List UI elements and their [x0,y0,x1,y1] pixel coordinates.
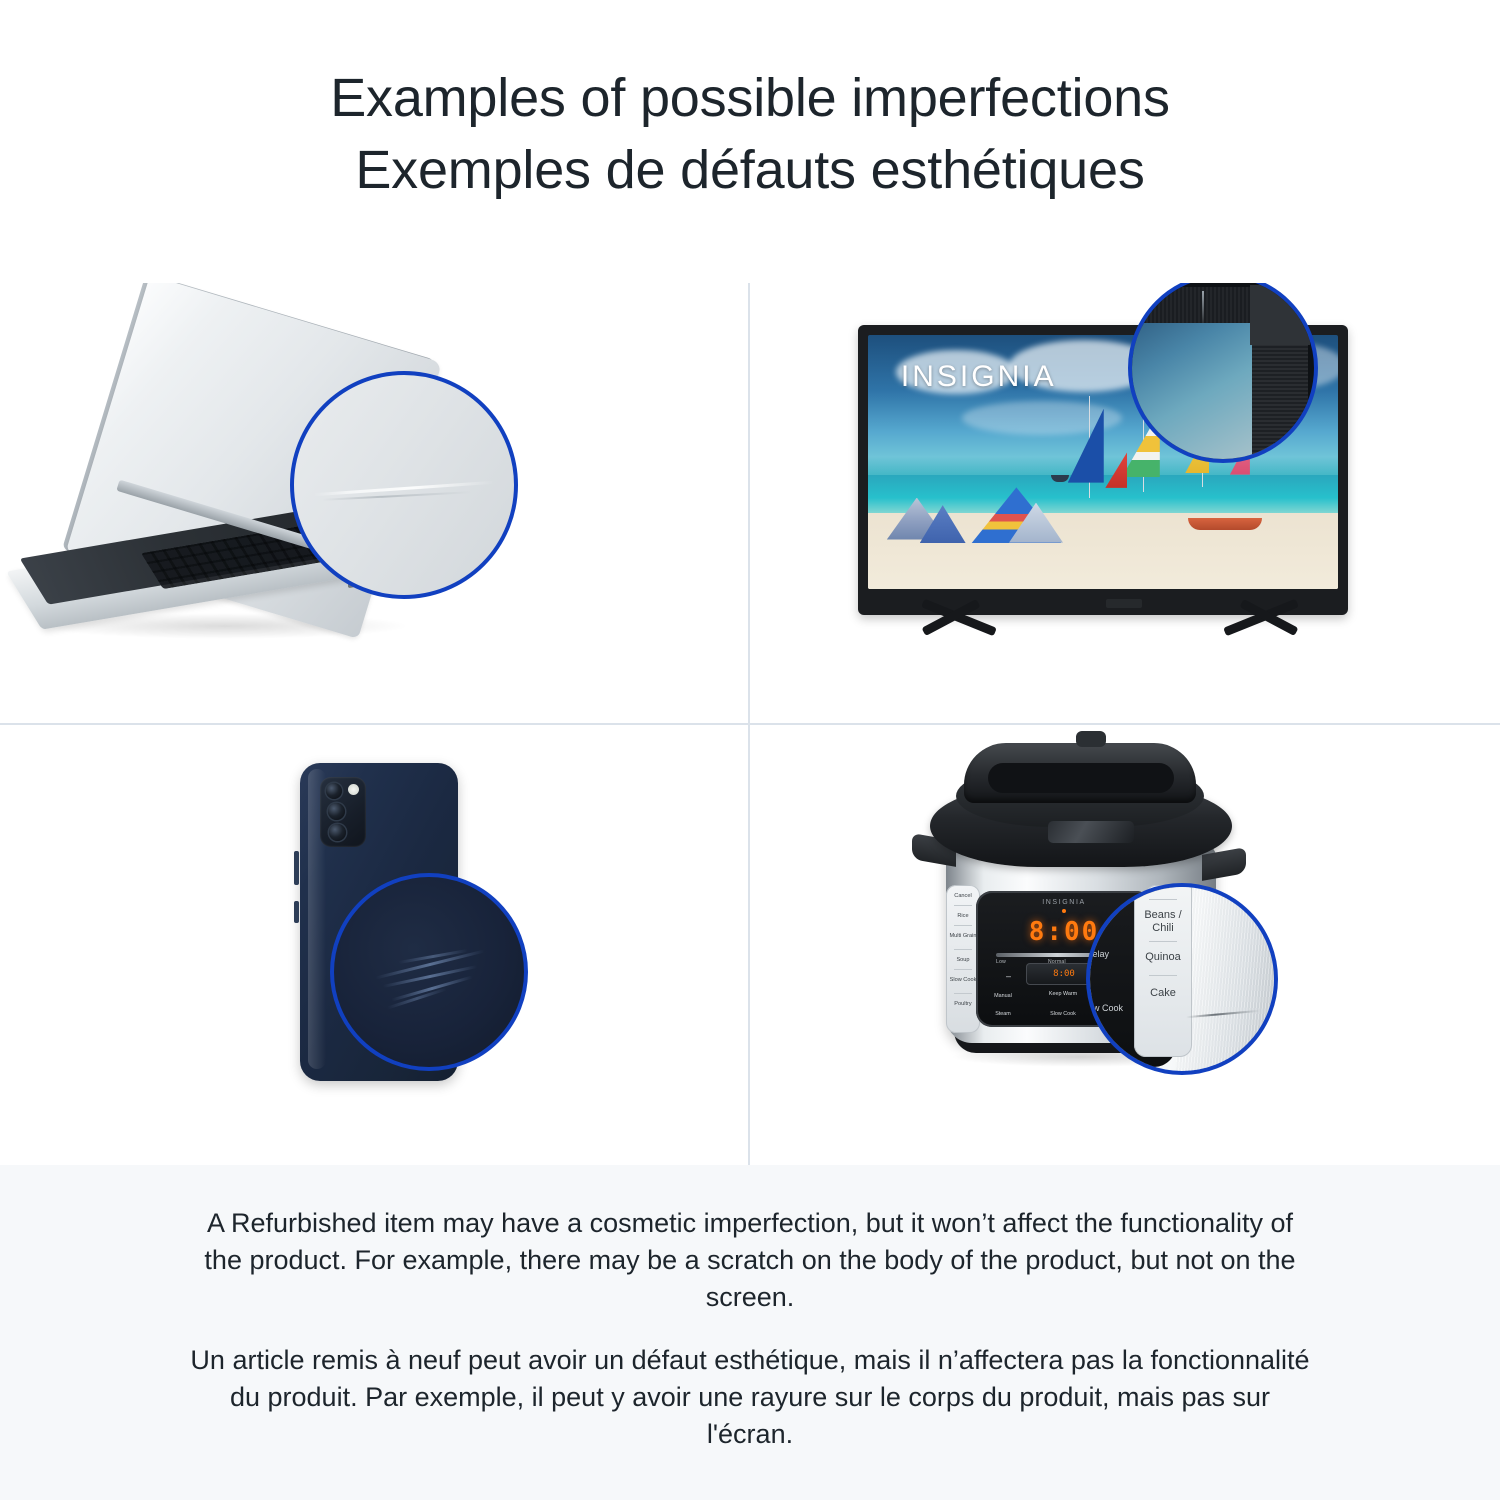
smartphone-camera-module [320,777,366,847]
camera-lens-icon [329,824,346,841]
pressure-cooker-magnifier-circle: Veggies Beans / Chili Quinoa Cake Delay … [1086,883,1278,1075]
disclaimer-paragraph-fr: Un article remis à neuf peut avoir un dé… [185,1342,1315,1453]
pressure-cooker-steam-valve [1076,731,1106,747]
pressure-cooker-button[interactable]: Slow Cook [946,977,980,983]
pressure-cooker-float-valve [1048,821,1134,843]
pressure-level-label: Low [996,959,1006,965]
smartphone-panel [0,725,748,1165]
footer-disclaimer: A Refurbished item may have a cosmetic i… [0,1165,1500,1500]
smartphone-power-button [294,901,299,923]
laptop-illustration [0,283,748,723]
button-separator [954,925,972,926]
magnified-button: Quinoa [1134,951,1192,964]
television-bezel-scratch [1202,291,1204,325]
magnified-left-label: Slow Cook [1086,1003,1123,1013]
pressure-cooker-left-button-column[interactable]: Cancel Rice Multi Grain Soup Slow Cook P… [946,885,980,1033]
button-separator [1149,899,1177,900]
smartphone-volume-button [294,851,299,885]
television-bezel-corner [1250,285,1310,345]
minus-icon[interactable]: – [1006,971,1011,981]
magnified-button: Beans / Chili [1134,909,1192,935]
magnified-button: Cake [1134,987,1192,1000]
pressure-cooker-button[interactable]: Poultry [946,1001,980,1007]
smartphone-scratch-mark [383,965,477,987]
button-separator [954,993,972,994]
smartphone-scratch-mark [391,975,472,1001]
smartphone-illustration [0,725,748,1165]
television-panel: INSIGNIA [750,283,1498,723]
pressure-cooker-button[interactable]: Keep Warm [1048,991,1078,997]
television-ir-sensor [1106,599,1142,608]
pressure-cooker-button[interactable]: Manual [988,993,1018,999]
camera-lens-icon [326,783,342,799]
button-separator [1149,941,1177,942]
television-magnifier-circle [1128,283,1318,463]
pressure-cooker-button[interactable]: Soup [946,957,980,963]
button-separator [954,905,972,906]
beach-boat-icon [1188,518,1262,530]
imperfections-infographic: Examples of possible imperfections Exemp… [0,0,1500,1500]
page-title-fr: Exemples de défauts esthétiques [355,134,1144,206]
television-illustration: INSIGNIA [750,283,1498,723]
pressure-cooker-panel: Cancel Rice Multi Grain Soup Slow Cook P… [750,725,1498,1165]
laptop-magnifier-circle [290,371,518,599]
product-example-grid: INSIGNIA [0,283,1500,1165]
pressure-cooker-display: 8:00 [1029,917,1100,947]
pressure-cooker-button[interactable]: Rice [946,913,980,919]
header: Examples of possible imperfections Exemp… [0,0,1500,265]
pressure-cooker-handle-grip [988,763,1174,793]
pressure-cooker-indicator-led [1062,909,1066,913]
television-screen-logo: INSIGNIA [901,360,1057,394]
magnified-button-column: Veggies Beans / Chili Quinoa Cake [1134,883,1192,1057]
page-title-en: Examples of possible imperfections [330,62,1170,134]
sailboat-red-sail [1105,452,1127,488]
pressure-cooker-button[interactable]: Cancel [946,893,980,899]
pressure-cooker-button[interactable]: Steam [988,1011,1018,1017]
laptop-panel [0,283,748,723]
magnified-left-label: Delay [1086,949,1109,959]
button-separator [954,949,972,950]
button-separator [954,969,972,970]
smartphone-magnifier-circle [330,873,528,1071]
button-separator [1149,975,1177,976]
camera-flash-icon [348,784,359,795]
pressure-cooker-button[interactable]: Slow Cook [1048,1011,1078,1017]
camera-lens-icon [328,803,345,820]
disclaimer-paragraph-en: A Refurbished item may have a cosmetic i… [185,1205,1315,1316]
pressure-cooker-button[interactable]: Multi Grain [946,933,980,939]
pressure-cooker-illustration: Cancel Rice Multi Grain Soup Slow Cook P… [750,725,1498,1165]
